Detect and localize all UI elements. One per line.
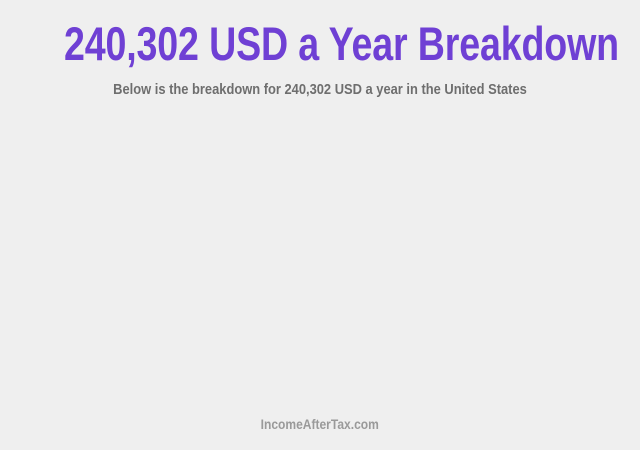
page-title: 240,302 USD a Year Breakdown — [64, 18, 576, 70]
page-subtitle: Below is the breakdown for 240,302 USD a… — [45, 81, 595, 99]
page-root: 240,302 USD a Year Breakdown Below is th… — [0, 0, 640, 450]
page-footer: IncomeAfterTax.com — [0, 416, 640, 450]
page-header: 240,302 USD a Year Breakdown Below is th… — [0, 0, 640, 99]
site-credit-link[interactable]: IncomeAfterTax.com — [261, 416, 379, 432]
breakdown-content-area — [0, 99, 640, 416]
